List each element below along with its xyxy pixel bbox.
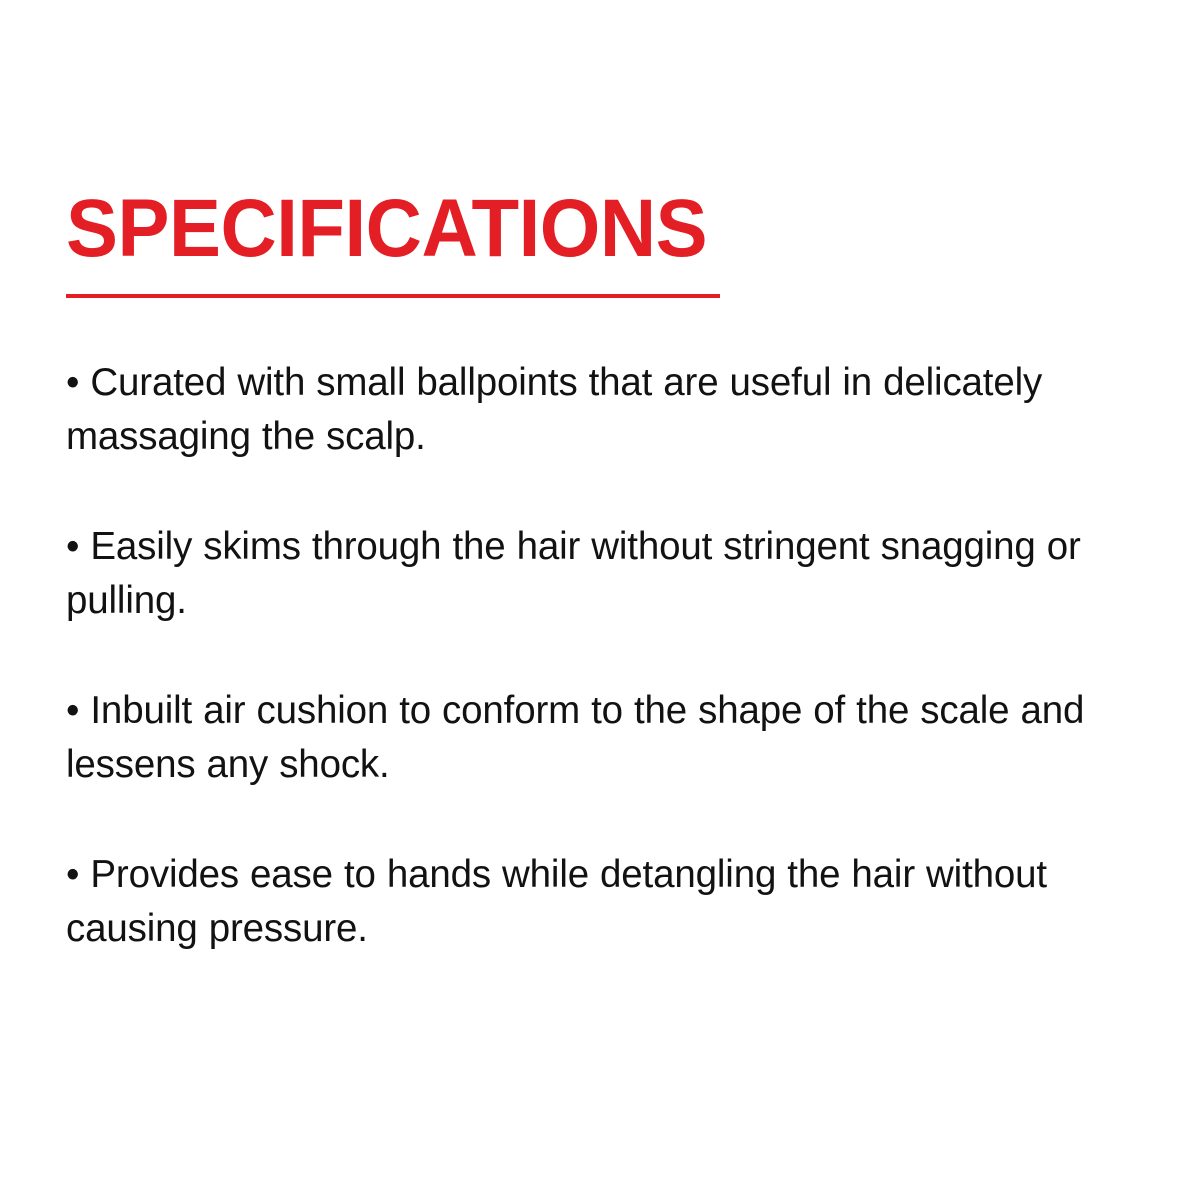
list-item-text: Curated with small ballpoints that are u… — [66, 361, 1042, 458]
bullet-icon: • — [66, 689, 79, 732]
heading-underline-rule — [66, 294, 720, 298]
bullet-icon: • — [66, 361, 79, 404]
list-item: • Easily skims through the hair without … — [66, 520, 1144, 628]
bullet-icon: • — [66, 853, 79, 896]
list-item-text: Easily skims through the hair without st… — [66, 525, 1081, 622]
list-item-text: Provides ease to hands while detangling … — [66, 853, 1047, 950]
list-item: • Provides ease to hands while detanglin… — [66, 848, 1144, 956]
specifications-list: • Curated with small ballpoints that are… — [66, 356, 1144, 956]
list-item-text: Inbuilt air cushion to conform to the sh… — [66, 689, 1084, 786]
bullet-icon: • — [66, 525, 79, 568]
list-item: • Inbuilt air cushion to conform to the … — [66, 684, 1144, 792]
specifications-card: SPECIFICATIONS • Curated with small ball… — [0, 0, 1200, 1200]
heading-block: SPECIFICATIONS — [66, 188, 1136, 298]
list-item: • Curated with small ballpoints that are… — [66, 356, 1144, 464]
page-title: SPECIFICATIONS — [66, 188, 1083, 270]
